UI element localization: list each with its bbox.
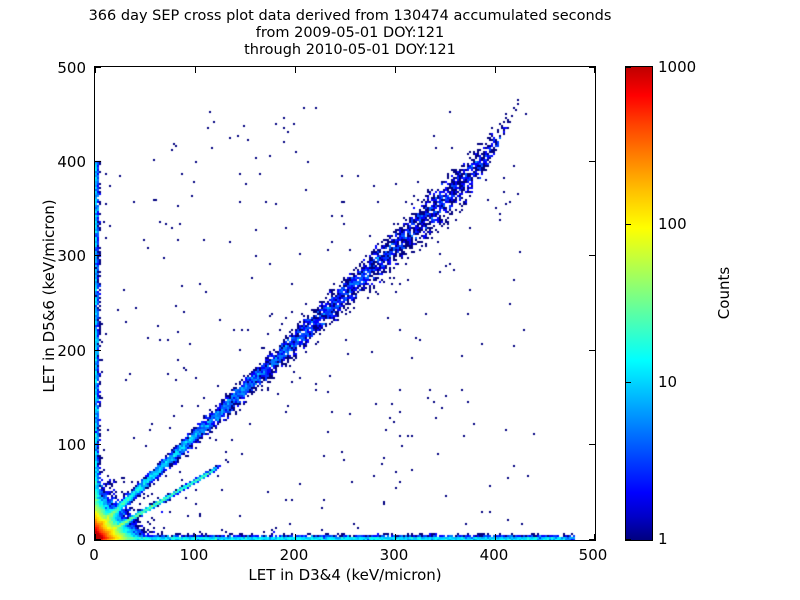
ytick-label-500: 500 [26,59,86,77]
ytick-label-0: 0 [26,531,86,549]
x-axis-label: LET in D3&4 (keV/micron) [94,566,596,584]
ytick-right-200 [589,350,595,351]
colorbar-label-1: 1 [658,530,668,548]
colorbar-tick-10 [626,382,631,383]
title-line-2: from 2009-05-01 DOY:121 [0,25,700,42]
ytick-300 [95,255,101,256]
ytick-500 [95,67,101,68]
ytick-400 [95,161,101,162]
title-line-3: through 2010-05-01 DOY:121 [0,42,700,59]
ytick-100 [95,444,101,445]
xtick-300 [395,534,396,540]
xtick-label-200: 200 [259,546,329,564]
colorbar-tick-1000 [626,67,631,68]
xtick-100 [195,534,196,540]
xtick-top-100 [195,67,196,73]
xtick-200 [295,534,296,540]
colorbar-axis-label: Counts [715,203,733,383]
ytick-right-0 [589,539,595,540]
scatter-plot-area [94,66,596,541]
colorbar [625,66,653,541]
title-line-1: 366 day SEP cross plot data derived from… [0,8,700,25]
colorbar-tick-100 [626,224,631,225]
scatter-data-layer [95,67,595,540]
ytick-right-100 [589,444,595,445]
ytick-200 [95,350,101,351]
colorbar-tick-1 [626,539,631,540]
xtick-400 [495,534,496,540]
y-axis-label: LET in D5&6 (keV/micron) [40,146,58,446]
ytick-0 [95,539,101,540]
xtick-label-500: 500 [558,546,628,564]
ytick-right-500 [589,67,595,68]
colorbar-label-10: 10 [658,373,677,391]
chart-title: 366 day SEP cross plot data derived from… [0,8,700,59]
colorbar-label-100: 100 [658,215,687,233]
colorbar-gradient [626,67,652,540]
ytick-right-400 [589,161,595,162]
xtick-top-400 [495,67,496,73]
colorbar-label-1000: 1000 [658,58,696,76]
xtick-top-200 [295,67,296,73]
ytick-right-300 [589,255,595,256]
xtick-top-300 [395,67,396,73]
xtick-label-100: 100 [159,546,229,564]
xtick-label-300: 300 [359,546,429,564]
xtick-label-400: 400 [459,546,529,564]
